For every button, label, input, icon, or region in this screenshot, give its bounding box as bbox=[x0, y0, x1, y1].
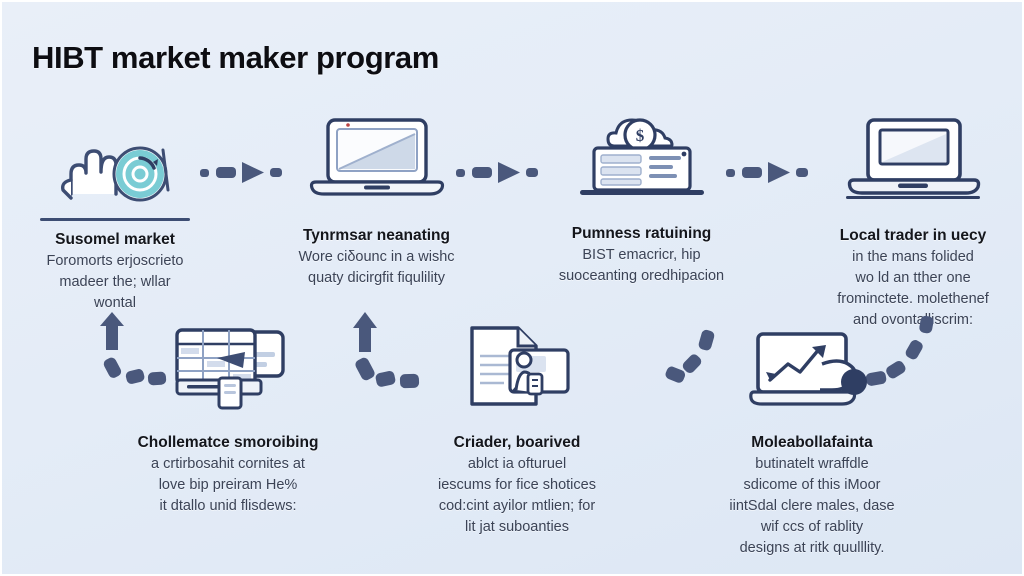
page-title: HIBT market maker program bbox=[32, 40, 439, 76]
step-body-2: Wore ciδounc in a wishc quaty dicirgfit … bbox=[264, 247, 489, 289]
step-title-6: Criader, boarived bbox=[384, 433, 650, 452]
step-card-6: Criader, boarived ablct ia ofturuel iesc… bbox=[384, 320, 650, 538]
divider-1 bbox=[40, 218, 190, 221]
step-body-7: butinatelt wraffdle sdicome of this iMoo… bbox=[678, 454, 946, 559]
step-card-2: Tynrmsar neanating Wore ciδounc in a wis… bbox=[264, 112, 489, 289]
svg-text:$: $ bbox=[635, 126, 644, 145]
laptop-screen-icon bbox=[802, 112, 1024, 204]
step-card-4: Local trader in uecy in the mans folided… bbox=[802, 112, 1024, 331]
step-card-1: Susomel market Foromorts erjoscrieto mad… bbox=[20, 120, 210, 314]
step-title-1: Susomel market bbox=[20, 230, 210, 249]
laptop-chart-icon bbox=[264, 112, 489, 204]
step-body-3: BIST emacricr, hip suoceanting oredhipac… bbox=[524, 245, 759, 287]
step-title-3: Pumness ratuining bbox=[524, 224, 759, 243]
monitor-trend-hand-icon bbox=[678, 320, 946, 412]
step-title-4: Local trader in uecy bbox=[802, 226, 1024, 245]
arrow-step5-to-row-up bbox=[90, 302, 190, 407]
step-title-5: Chollematce smoroibing bbox=[102, 433, 354, 452]
step-title-7: Moleabollafainta bbox=[678, 433, 946, 452]
infographic-canvas: HIBT market maker program Susomel market… bbox=[0, 0, 1024, 576]
step-card-7: Moleabollafainta butinatelt wraffdle sdi… bbox=[678, 320, 946, 559]
hand-target-icon bbox=[20, 120, 210, 212]
cloud-dollar-dashboard-icon: $ bbox=[524, 110, 759, 202]
arrow-step3-to-step4 bbox=[724, 160, 810, 186]
step-card-3: $ Pumness ratuining BIST emacricr, hip s… bbox=[524, 110, 759, 287]
step-body-5: a crtirbosahit cornites at love bip prei… bbox=[102, 454, 354, 517]
step-title-2: Tynrmsar neanating bbox=[264, 226, 489, 245]
step-body-6: ablct ia ofturuel iescums for fice shoti… bbox=[384, 454, 650, 538]
document-person-icon bbox=[384, 320, 650, 412]
